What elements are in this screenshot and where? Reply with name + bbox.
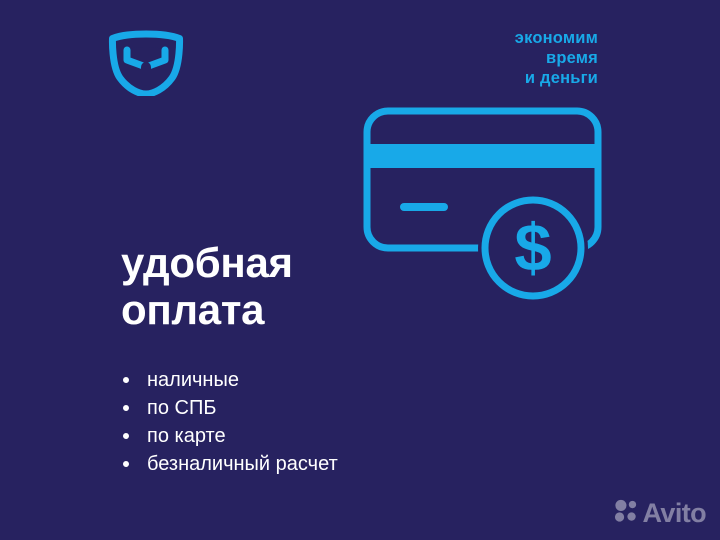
bullet-icon <box>123 405 129 411</box>
credit-card-icon <box>367 111 598 248</box>
list-item: по карте <box>118 422 338 450</box>
list-item-label: наличные <box>147 369 239 391</box>
tagline-line-2: время <box>358 48 598 68</box>
tagline: экономим время и деньги <box>358 28 598 88</box>
tagline-line-3: и деньги <box>358 68 598 88</box>
tagline-line-1: экономим <box>358 28 598 48</box>
list-item: наличные <box>118 366 338 394</box>
avito-watermark: Avito <box>614 499 707 528</box>
page-title: удобная оплата <box>121 239 541 333</box>
list-item-label: по карте <box>147 425 226 447</box>
list-item: по СПБ <box>118 394 338 422</box>
list-item: безналичный расчет <box>118 450 338 478</box>
headline-line-2: оплата <box>121 286 541 333</box>
payment-methods-list: наличные по СПБ по карте безналичный рас… <box>118 366 338 478</box>
shield-logo-icon <box>106 26 186 96</box>
avito-dots-icon <box>614 499 638 528</box>
list-item-label: по СПБ <box>147 397 216 419</box>
bullet-icon <box>123 461 129 467</box>
bullet-icon <box>123 433 129 439</box>
avito-wordmark: Avito <box>643 500 707 527</box>
list-item-label: безналичный расчет <box>147 453 338 475</box>
headline-line-1: удобная <box>121 239 541 286</box>
bullet-icon <box>123 377 129 383</box>
promo-poster: экономим время и деньги <box>0 0 720 540</box>
